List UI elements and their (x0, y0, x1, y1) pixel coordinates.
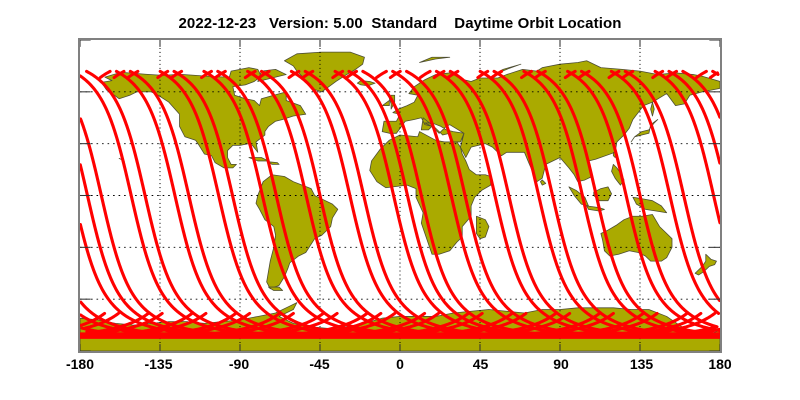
orbit-location-map-figure: 2022-12-23 Version: 5.00 Standard Daytim… (0, 0, 800, 400)
x-tick-label: -180 (66, 356, 94, 372)
x-tick-label: -135 (144, 356, 172, 372)
x-tick-label: 90 (553, 356, 569, 372)
x-tick-label: 45 (473, 356, 489, 372)
world-map-svg (80, 40, 720, 351)
figure-title: 2022-12-23 Version: 5.00 Standard Daytim… (0, 15, 800, 32)
x-tick-label: -45 (309, 356, 329, 372)
map-plot-area[interactable] (78, 38, 722, 353)
x-tick-label: 180 (708, 356, 731, 372)
x-tick-label: -90 (229, 356, 249, 372)
x-tick-label: 0 (396, 356, 404, 372)
x-tick-label: 135 (630, 356, 653, 372)
